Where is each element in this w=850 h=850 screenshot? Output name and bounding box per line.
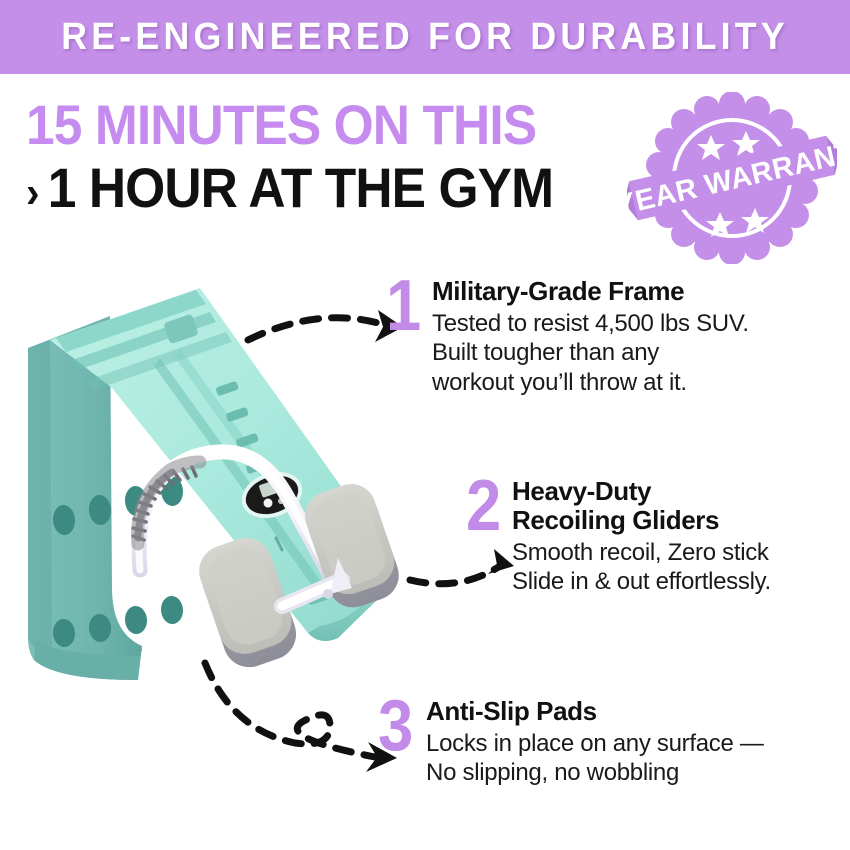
headline-line-2-row: › 1 HOUR AT THE GYM [26, 159, 596, 216]
feature-body-3: Anti-Slip Pads Locks in place on any sur… [416, 697, 764, 788]
product-image [20, 288, 440, 718]
headline-block: 15 MINUTES ON THIS › 1 HOUR AT THE GYM [26, 96, 646, 216]
top-banner: RE-ENGINEERED FOR DURABILITY [0, 0, 850, 74]
feature-number-3: 3 [378, 697, 411, 756]
warranty-badge: 3 YEAR WARRANTY [627, 92, 837, 264]
feature-title-2: Heavy-Duty Recoiling Gliders [512, 477, 771, 535]
greater-than-icon: › [26, 171, 39, 216]
feature-body-2: Heavy-Duty Recoiling Gliders Smooth reco… [504, 477, 771, 597]
banner-headline: RE-ENGINEERED FOR DURABILITY [61, 16, 789, 59]
infographic-page: RE-ENGINEERED FOR DURABILITY 15 MINUTES … [0, 0, 850, 850]
feature-number-2: 2 [466, 477, 499, 536]
headline-line-1: 15 MINUTES ON THIS [26, 96, 596, 153]
feature-title-3: Anti-Slip Pads [426, 697, 764, 726]
feature-item-1: 1 Military-Grade Frame Tested to resist … [386, 277, 749, 397]
feature-item-2: 2 Heavy-Duty Recoiling Gliders Smooth re… [466, 477, 771, 597]
feature-desc-1: Tested to resist 4,500 lbs SUV. Built to… [432, 309, 749, 397]
feature-item-3: 3 Anti-Slip Pads Locks in place on any s… [378, 697, 764, 788]
feature-desc-3: Locks in place on any surface — No slipp… [426, 729, 764, 788]
feature-number-1: 1 [386, 277, 419, 336]
headline-line-2: 1 HOUR AT THE GYM [48, 159, 553, 216]
feature-desc-2: Smooth recoil, Zero stick Slide in & out… [512, 538, 771, 597]
feature-title-1: Military-Grade Frame [432, 277, 749, 306]
feature-body-1: Military-Grade Frame Tested to resist 4,… [424, 277, 749, 397]
